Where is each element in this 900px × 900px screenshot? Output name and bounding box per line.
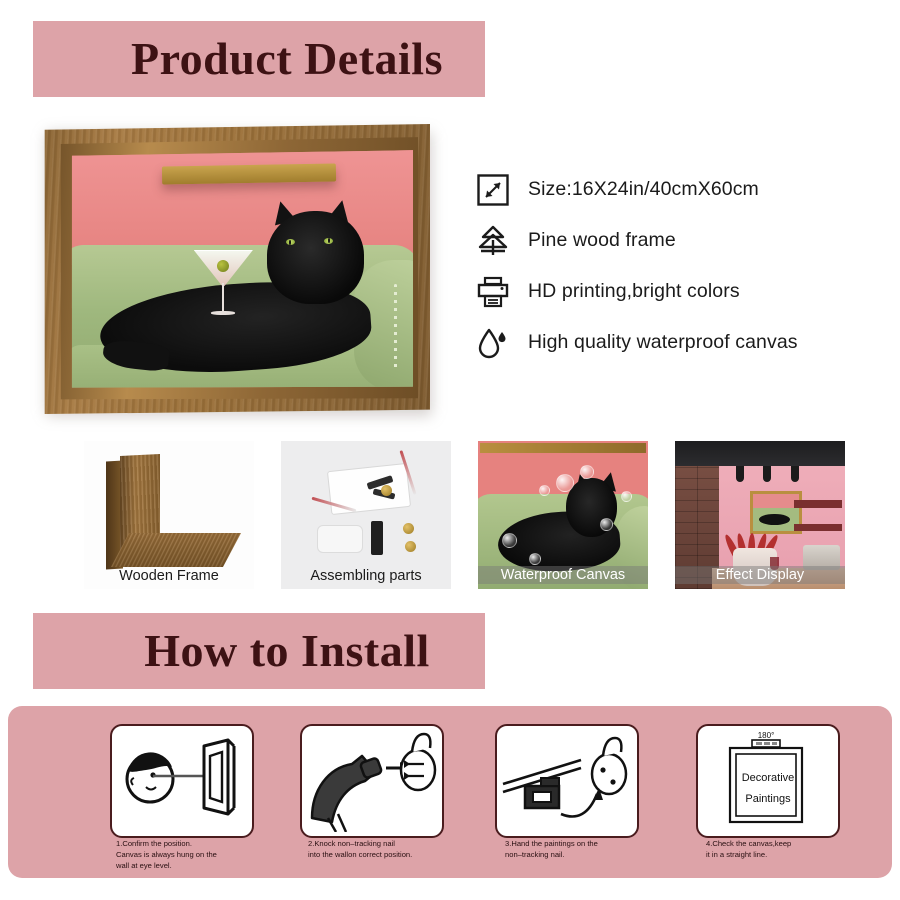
artwork-sofa-studs [394,284,397,371]
product-details-banner: Product Details [33,21,485,97]
printer-icon [472,271,514,313]
feature-label-frame: Pine wood frame [528,229,676,252]
thumbnail-caption: Waterproof Canvas [478,566,648,584]
product-detail-page: Product Details [0,0,900,900]
product-details-title: Product Details [131,36,443,82]
feature-row-size: Size:16X24in/40cmX60cm [472,164,884,215]
water-droplet [502,533,517,548]
feature-row-frame: Pine wood frame [472,215,884,266]
artwork-shelf [162,163,336,184]
thumbnail-wooden-frame[interactable]: Wooden Frame [84,441,254,589]
screw-2 [405,541,416,552]
feature-label-canvas: High quality waterproof canvas [528,331,798,354]
install-step-4-panel: 180° Decorative Paintings [696,724,840,838]
screw-1 [403,523,414,534]
angle-label: 180° [758,731,775,740]
how-to-install-title: How to Install [144,628,430,674]
install-step-4-caption: 4.Check the canvas,keepit in a straight … [706,838,866,860]
screw-3 [381,485,392,496]
pine-tree-icon [472,220,514,262]
decorative-paintings-label: Decorative Paintings [698,768,838,810]
thumbnail-waterproof-canvas[interactable]: Waterproof Canvas [478,441,648,589]
install-step-3-caption: 3.Hand the paintings on thenon–tracking … [505,838,665,860]
room-ceiling [675,441,845,466]
grain [111,533,241,567]
artwork-cat-head [267,211,364,303]
ceiling-lamp [791,466,799,482]
martini-stem [222,283,224,312]
canvas-artwork [65,148,413,391]
thumbnail-assembling-parts[interactable]: Assembling parts [281,441,451,589]
wall-shelf-lower [794,524,842,531]
water-drop-icon [472,322,514,364]
install-step-1-caption: 1.Confirm the position.Canvas is always … [116,838,276,871]
feature-label-printing: HD printing,bright colors [528,280,740,303]
water-droplet [556,474,574,492]
feature-row-canvas: High quality waterproof canvas [472,317,884,368]
frame-bracket-hook-icon [497,726,633,832]
canvas-top-shelf [480,443,646,453]
install-steps-strip: 180° Decorative Paintings 1.Confirm the … [8,706,892,878]
wall-shelf-upper [794,500,842,507]
thumbnail-caption: Effect Display [675,566,845,584]
hammer-nail-icon [302,726,438,832]
artwork-martini-glass [194,250,253,323]
feature-label-size: Size:16X24in/40cmX60cm [528,178,759,201]
ceiling-lamp [763,466,771,482]
install-step-1-panel [110,724,254,838]
install-step-2-panel [300,724,444,838]
resize-arrows-icon [472,169,514,211]
decorative-paintings-line1: Decorative [698,768,838,789]
hero-product-image[interactable] [40,124,432,416]
water-droplet [580,465,594,479]
ceiling-lamp [736,466,744,482]
decorative-paintings-line2: Paintings [698,789,838,810]
install-step-2-caption: 2.Knock non–tracking nailinto the wallon… [308,838,468,860]
frame-horizontal-rail [111,533,241,567]
assembling-parts-photo [281,441,451,589]
how-to-install-banner: How to Install [33,613,485,689]
feature-list: Size:16X24in/40cmX60cm Pine wood frame [472,164,884,368]
thumbnail-effect-display[interactable]: Effect Display [675,441,845,589]
face-eye-level-frame-icon [112,726,248,832]
feature-row-printing: HD printing,bright colors [472,266,884,317]
wooden-frame-photo [84,441,254,589]
martini-base [211,311,235,315]
thumbnail-row: Wooden Frame Assembling parts [84,441,844,591]
metal-bracket [371,521,383,555]
sawtooth-hanger [317,525,363,553]
install-step-3-panel [495,724,639,838]
thumbnail-caption: Assembling parts [281,568,451,584]
thumbnail-caption: Wooden Frame [84,568,254,584]
